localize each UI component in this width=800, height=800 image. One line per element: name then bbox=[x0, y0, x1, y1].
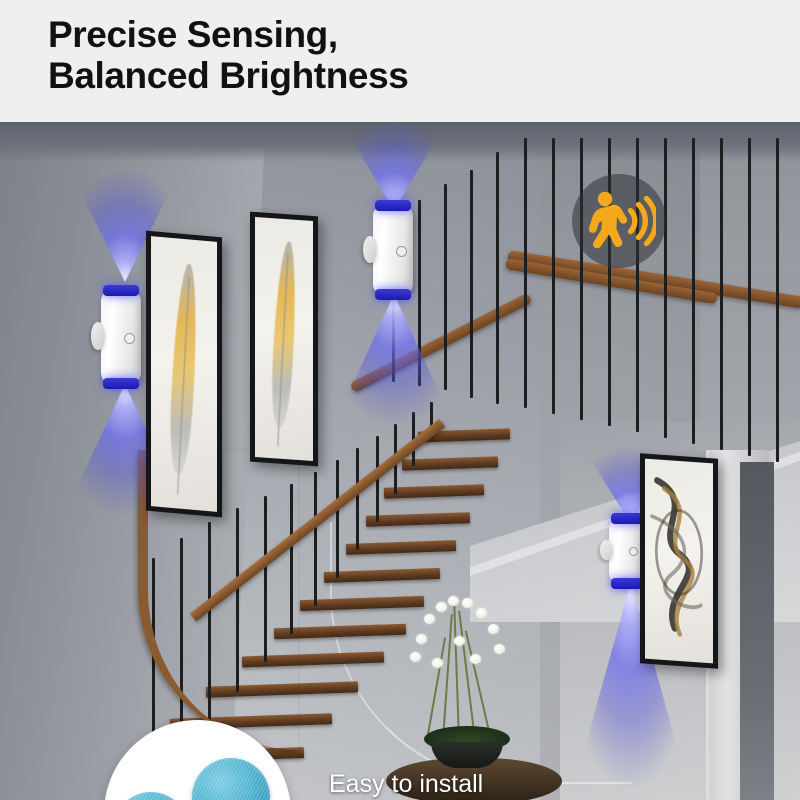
doorway-opening bbox=[740, 462, 774, 800]
motion-sensor-badge bbox=[572, 174, 666, 268]
lamp-led-top bbox=[375, 200, 410, 211]
upper-baluster bbox=[664, 138, 667, 438]
install-instructions: Easy to install 1. Tear off the gummed p… bbox=[329, 771, 745, 800]
lamp-magnetic-mount bbox=[91, 322, 105, 350]
orchid-bloom bbox=[470, 654, 481, 664]
ceiling bbox=[0, 122, 800, 162]
header-banner: Precise Sensing, Balanced Brightness bbox=[0, 0, 800, 122]
orchid-stem bbox=[453, 602, 459, 740]
lamp-magnetic-mount bbox=[600, 540, 612, 560]
stair-tread bbox=[324, 568, 440, 583]
wall-light-left bbox=[101, 290, 141, 384]
upper-baluster bbox=[580, 138, 583, 420]
lamp-magnetic-mount bbox=[363, 236, 377, 263]
upper-baluster bbox=[748, 138, 751, 456]
feather-artwork-2 bbox=[250, 212, 318, 467]
upper-baluster bbox=[470, 170, 473, 398]
walking-person-motion-sensor-icon bbox=[582, 190, 656, 252]
orchid-bloom bbox=[424, 614, 435, 624]
orchid-bloom bbox=[454, 636, 465, 646]
orchid-bloom bbox=[436, 602, 447, 612]
lifestyle-photo: Easy to install 1. Tear off the gummed p… bbox=[0, 122, 800, 800]
abstract-artwork bbox=[640, 453, 718, 668]
feather-motif bbox=[167, 262, 200, 474]
headline-line-1: Precise Sensing, bbox=[48, 14, 338, 55]
stair-tread bbox=[402, 456, 498, 470]
mounting-disc-2 bbox=[192, 758, 270, 800]
orchid-bowl bbox=[431, 742, 503, 768]
artwork-mat bbox=[255, 217, 313, 461]
orchid-bloom bbox=[448, 596, 459, 606]
upper-baluster bbox=[776, 138, 779, 462]
upper-baluster bbox=[552, 138, 555, 414]
upper-baluster bbox=[496, 152, 499, 404]
stair-baluster bbox=[336, 460, 339, 578]
stair-tread bbox=[384, 484, 484, 498]
orchid-bloom bbox=[416, 634, 427, 644]
feather-artwork-1 bbox=[146, 231, 222, 518]
stair-tread bbox=[346, 540, 456, 555]
upper-baluster bbox=[418, 200, 421, 386]
lamp-led-top bbox=[611, 513, 643, 524]
install-heading: Easy to install bbox=[329, 771, 745, 799]
stair-baluster bbox=[356, 448, 359, 550]
mounting-disc-1 bbox=[114, 792, 188, 800]
stair-tread bbox=[366, 512, 470, 527]
orchid-bloom bbox=[462, 598, 473, 608]
artwork-mat bbox=[645, 459, 713, 664]
lamp-body bbox=[101, 290, 141, 384]
upper-baluster bbox=[524, 138, 527, 408]
upper-baluster bbox=[692, 138, 695, 444]
page-title: Precise Sensing, Balanced Brightness bbox=[48, 14, 748, 97]
orchid-bloom bbox=[494, 644, 505, 654]
orchid-stem bbox=[442, 614, 452, 740]
lamp-body bbox=[373, 205, 413, 295]
orchid-bloom bbox=[476, 608, 487, 618]
lamp-led-bottom bbox=[103, 378, 138, 389]
orchid-stem bbox=[458, 611, 475, 740]
orchid-arrangement bbox=[392, 592, 542, 768]
orchid-bloom bbox=[488, 624, 499, 634]
lamp-led-bottom bbox=[375, 289, 410, 300]
upper-baluster bbox=[444, 184, 447, 390]
product-marketing-image: Precise Sensing, Balanced Brightness bbox=[0, 0, 800, 800]
wall-light-center bbox=[373, 205, 413, 295]
orchid-bloom bbox=[432, 658, 443, 668]
upper-baluster bbox=[720, 138, 723, 450]
artwork-mat bbox=[151, 236, 217, 512]
lamp-led-bottom bbox=[611, 578, 643, 589]
feather-motif bbox=[269, 240, 298, 429]
headline-line-2: Balanced Brightness bbox=[48, 55, 748, 96]
abstract-swirl-graphic bbox=[645, 459, 713, 664]
orchid-bloom bbox=[410, 652, 421, 662]
lamp-led-top bbox=[103, 285, 138, 296]
stair-baluster bbox=[314, 472, 317, 606]
